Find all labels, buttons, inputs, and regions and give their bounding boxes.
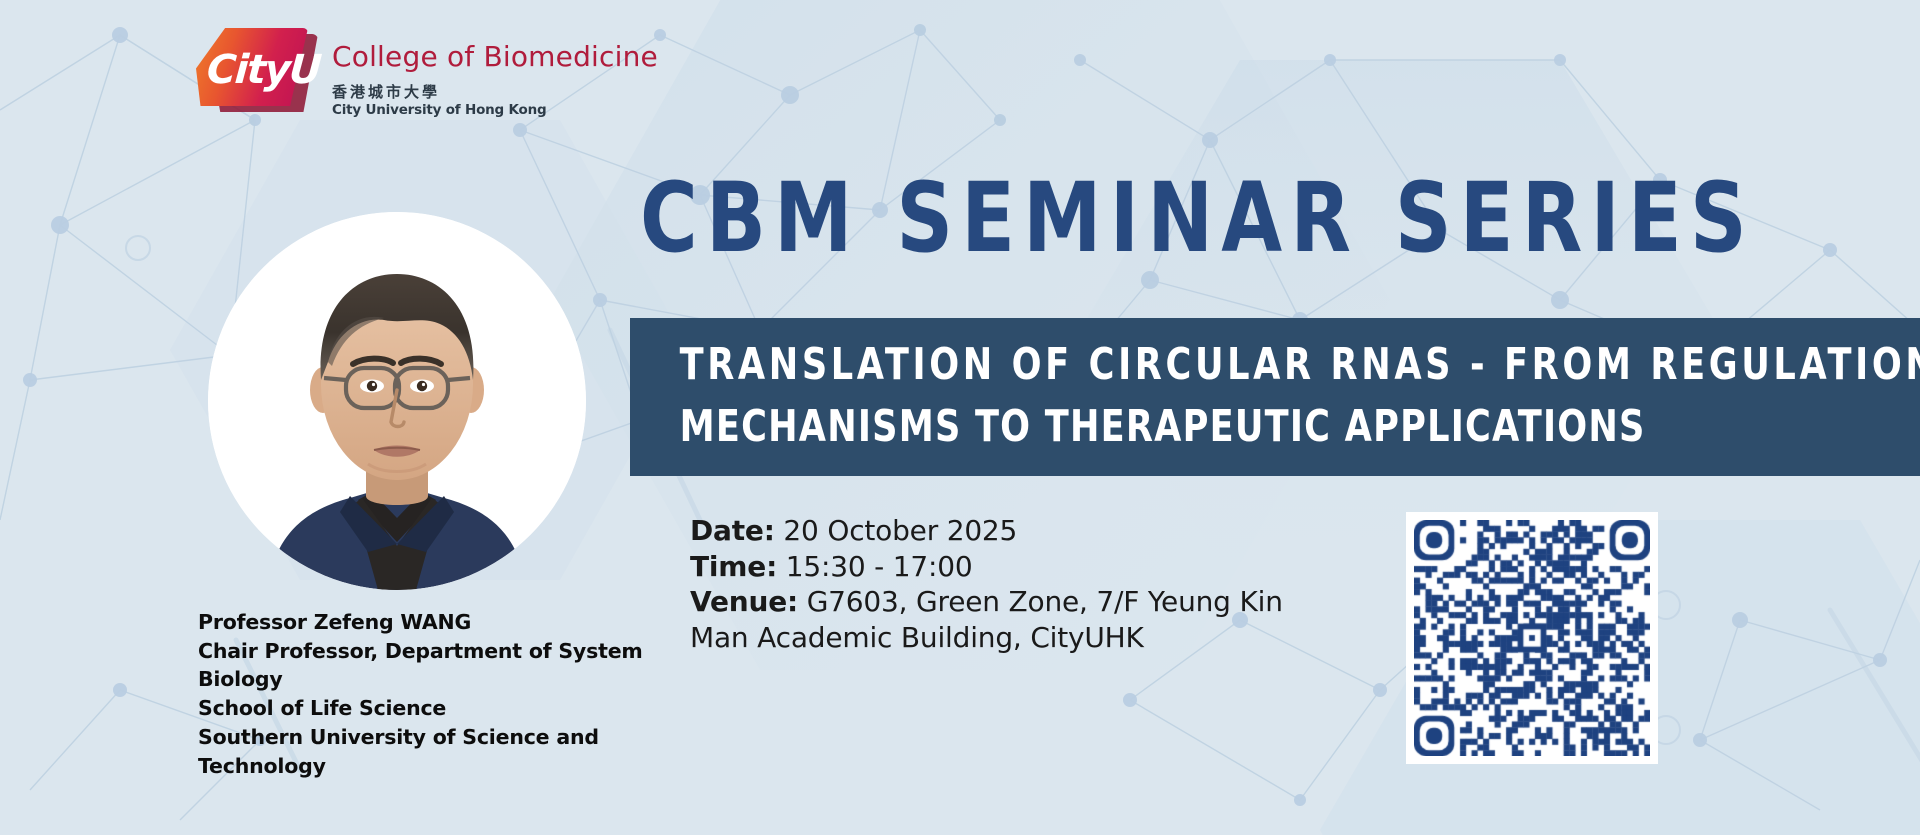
seminar-title-line2: MECHANISMS TO THERAPEUTIC APPLICATIONS [630,396,1662,458]
seminar-title-line1: TRANSLATION OF CIRCULAR RNAS - FROM REGU… [630,334,1662,396]
time-value: 15:30 - 17:00 [786,550,973,583]
cityu-wordmark: CityU [206,50,322,90]
date-row: Date: 20 October 2025 [690,513,1290,549]
venue-label: Venue: [690,585,798,618]
time-row: Time: 15:30 - 17:00 [690,549,1290,585]
venue-row: Venue: G7603, Green Zone, 7/F Yeung Kin [690,584,1290,620]
college-text-block: College of Biomedicine 香港城市大學 City Unive… [332,28,658,119]
speaker-title-line2: Biology [198,665,644,694]
speaker-info: Professor Zefeng WANG Chair Professor, D… [198,608,644,780]
speaker-title-line1: Chair Professor, Department of System [198,637,644,666]
speaker-school: School of Life Science [198,694,644,723]
university-name-zh: 香港城市大學 [332,83,658,102]
seminar-title-banner: TRANSLATION OF CIRCULAR RNAS - FROM REGU… [630,318,1920,476]
qr-code-canvas[interactable] [1414,520,1650,756]
qr-code[interactable] [1406,512,1658,764]
college-name: College of Biomedicine [332,40,658,74]
time-label: Time: [690,550,777,583]
speaker-institution-line2: Technology [198,752,644,781]
speaker-photo-illustration [208,212,586,590]
cityu-chevron-logo-icon: CityU [196,28,318,114]
date-value: 20 October 2025 [783,514,1017,547]
venue-value: G7603, Green Zone, 7/F Yeung Kin [807,585,1283,618]
event-details: Date: 20 October 2025 Time: 15:30 - 17:0… [690,513,1290,655]
speaker-institution-line1: Southern University of Science and [198,723,644,752]
date-label: Date: [690,514,775,547]
cityu-logo-block: CityU College of Biomedicine 香港城市大學 City… [196,28,658,119]
university-name-en: City University of Hong Kong [332,102,658,119]
page-title: CBM SEMINAR SERIES [640,166,1755,270]
seminar-poster: CityU College of Biomedicine 香港城市大學 City… [0,0,1920,835]
speaker-name: Professor Zefeng WANG [198,608,644,637]
venue-row-continued: Man Academic Building, CityUHK [690,620,1290,656]
speaker-portrait [208,212,586,590]
